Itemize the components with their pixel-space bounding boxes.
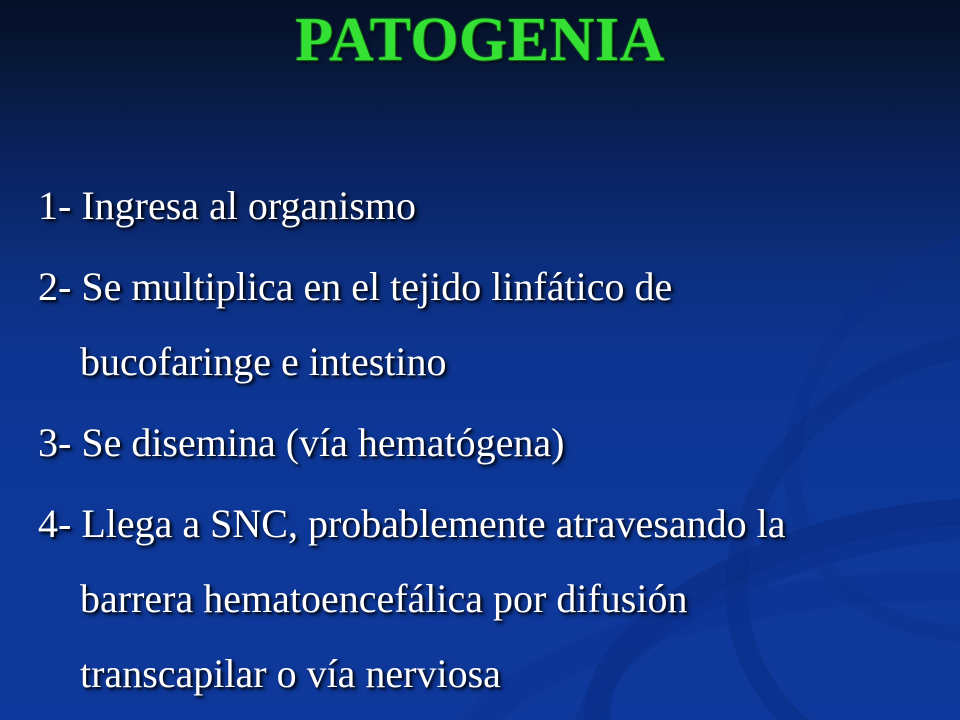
list-item-line: 3- Se disemina (vía hematógena) xyxy=(38,405,938,480)
slide-body-list: 1- Ingresa al organismo 2- Se multiplica… xyxy=(38,168,938,717)
list-item: 4- Llega a SNC, probablemente atravesand… xyxy=(38,486,938,711)
list-item: 2- Se multiplica en el tejido linfático … xyxy=(38,249,938,399)
list-item: 3- Se disemina (vía hematógena) xyxy=(38,405,938,480)
list-item: 1- Ingresa al organismo xyxy=(38,168,938,243)
list-item-line-continued: bucofaringe e intestino xyxy=(38,324,938,399)
list-item-line-continued: barrera hematoencefálica por difusión xyxy=(38,561,938,636)
list-item-line-continued: transcapilar o vía nerviosa xyxy=(38,636,938,711)
list-item-line: 2- Se multiplica en el tejido linfático … xyxy=(38,249,938,324)
list-item-line: 4- Llega a SNC, probablemente atravesand… xyxy=(38,486,938,561)
slide-title: PATOGENIA xyxy=(0,8,960,73)
list-item-line: 1- Ingresa al organismo xyxy=(38,168,938,243)
presentation-slide: PATOGENIA 1- Ingresa al organismo 2- Se … xyxy=(0,0,960,720)
